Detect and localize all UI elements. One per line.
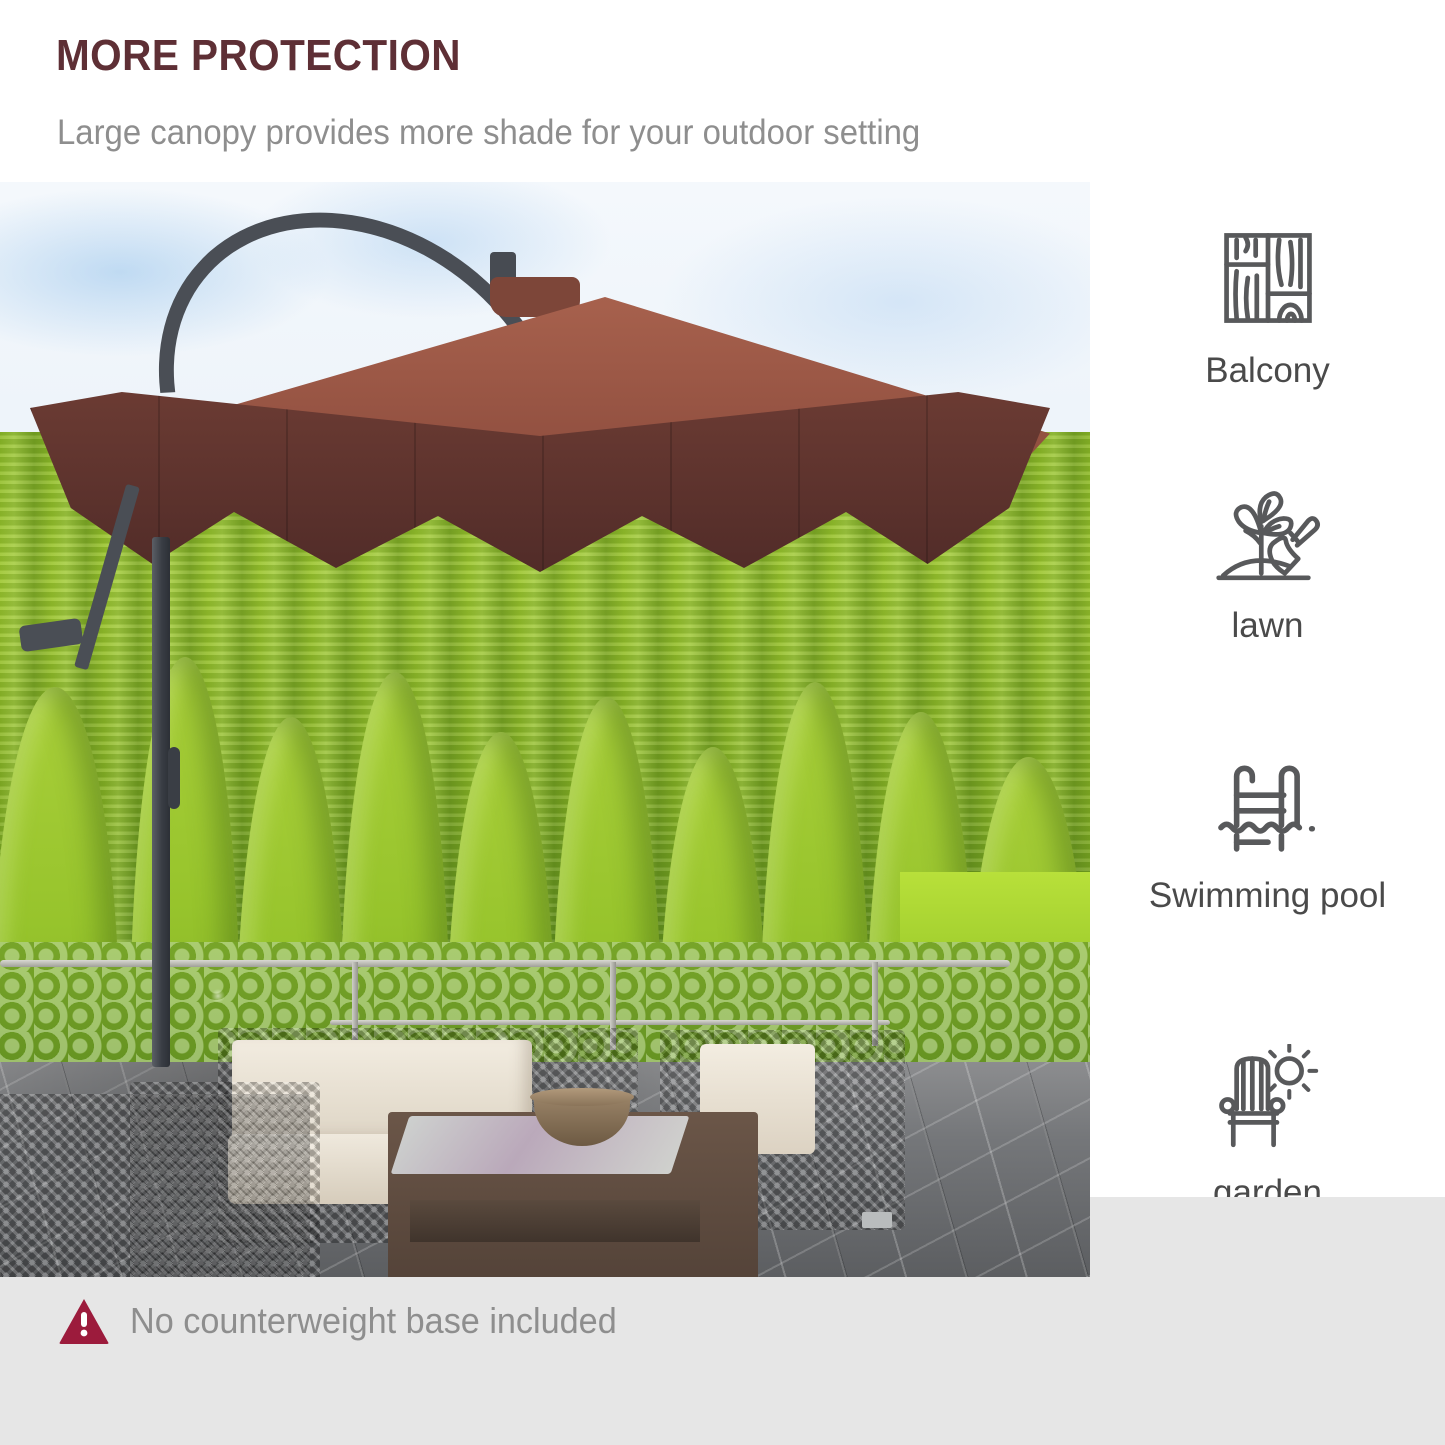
warning-triangle-icon <box>58 1297 110 1345</box>
pool-ladder-icon <box>1212 747 1324 859</box>
chair-foot <box>862 1212 892 1228</box>
warning-row: No counterweight base included <box>58 1297 642 1345</box>
feature-label: Balcony <box>1090 350 1445 392</box>
feature-item-balcony: Balcony <box>1090 222 1445 392</box>
header: MORE PROTECTION Large canopy provides mo… <box>0 0 1445 182</box>
product-feature-panel: MORE PROTECTION Large canopy provides mo… <box>0 0 1445 1445</box>
page-title: MORE PROTECTION <box>56 30 461 82</box>
page-subtitle: Large canopy provides more shade for you… <box>57 110 920 156</box>
feature-item-garden: garden <box>1090 1044 1445 1214</box>
wood-deck-icon <box>1212 222 1324 334</box>
plant-trowel-icon <box>1212 477 1324 589</box>
feature-label: lawn <box>1090 605 1445 647</box>
footer-warning-bar: No counterweight base included <box>0 1277 1445 1445</box>
table-lower-shelf <box>410 1200 700 1242</box>
feature-rail: Balcony lawn <box>1090 182 1445 1197</box>
feature-label: Swimming pool <box>1090 875 1445 917</box>
product-photo <box>0 182 1090 1277</box>
deck-chair-sun-icon <box>1212 1044 1324 1156</box>
footer-band-extension <box>1090 1197 1445 1277</box>
bowl-rim <box>530 1088 634 1106</box>
feature-item-lawn: lawn <box>1090 477 1445 647</box>
feature-item-swimming-pool: Swimming pool <box>1090 747 1445 917</box>
warning-text: No counterweight base included <box>130 1299 617 1343</box>
rattan-armchair-left-back <box>130 1082 320 1277</box>
umbrella-crank-handle <box>168 747 180 809</box>
